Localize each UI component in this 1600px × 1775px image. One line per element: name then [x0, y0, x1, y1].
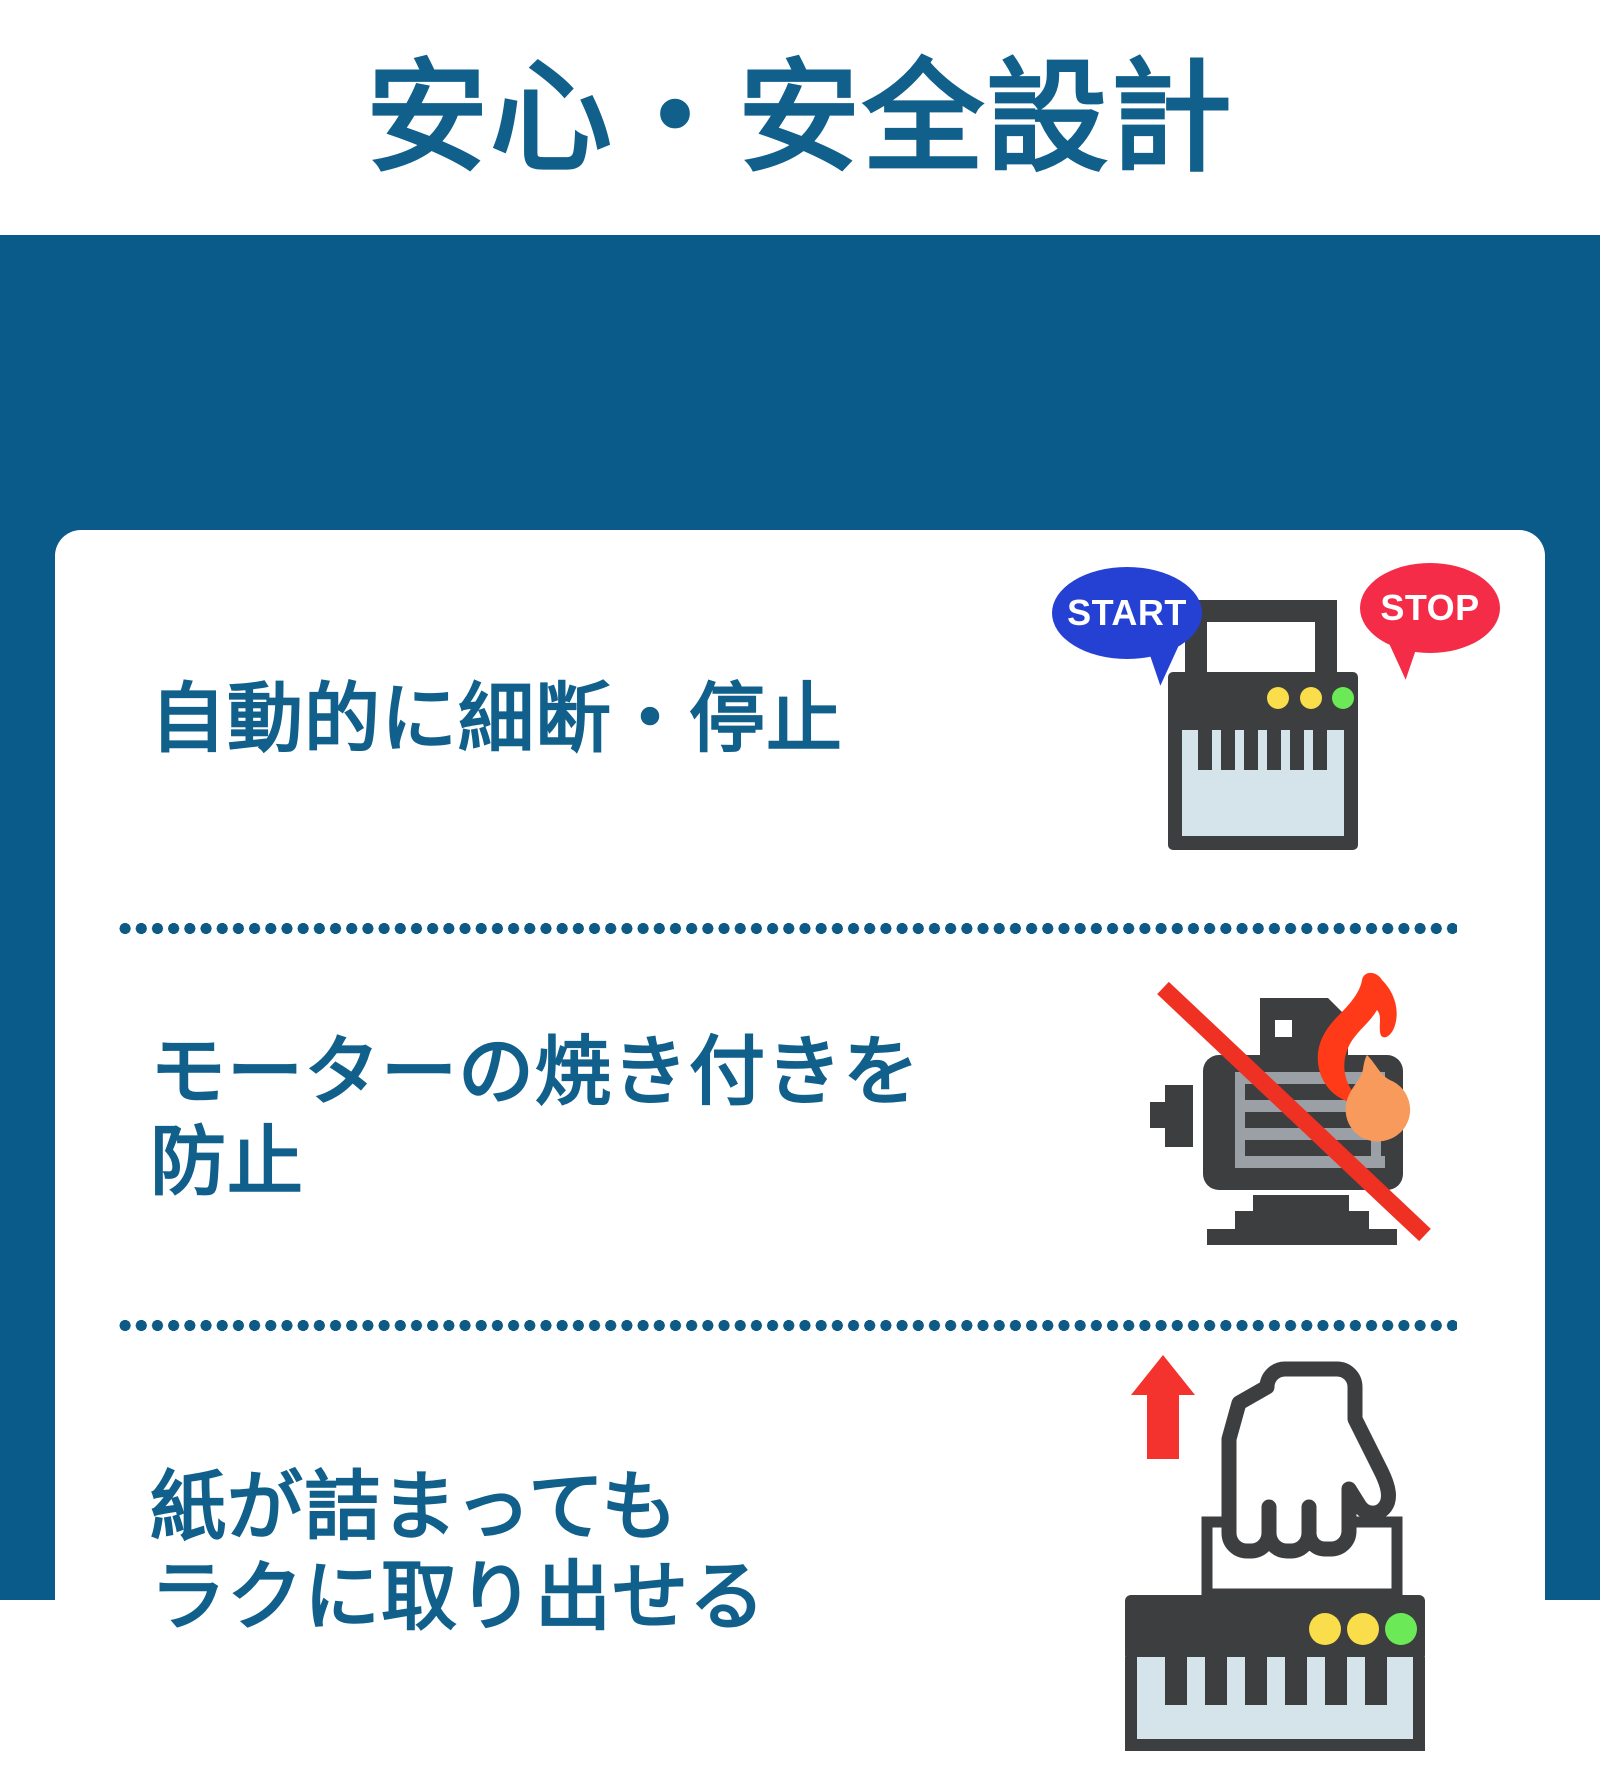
shredder-body — [1125, 1595, 1425, 1751]
start-bubble-tail — [1146, 639, 1186, 687]
indicator-light-2 — [1347, 1613, 1379, 1645]
blue-band: 自動的に細断・停止 START STOP — [0, 235, 1600, 1600]
feature-label-auto-shred-stop: 自動的に細断・停止 — [150, 675, 843, 765]
header: 安心・安全設計 — [0, 0, 1600, 235]
indicator-light-3 — [1385, 1613, 1417, 1645]
start-bubble-label: START — [1067, 592, 1187, 634]
indicator-light-1 — [1267, 687, 1289, 709]
indicator-light-1 — [1309, 1613, 1341, 1645]
feature-row-auto-shred-stop: 自動的に細断・停止 START STOP — [55, 530, 1545, 928]
start-bubble: START — [1052, 567, 1202, 659]
stop-bubble-label: STOP — [1380, 587, 1479, 629]
up-arrow-icon — [1131, 1355, 1195, 1459]
feature-row-motor-burn-prevention: モーターの焼き付きを 防止 — [55, 928, 1545, 1325]
motor-no-fire-icon — [1095, 950, 1475, 1260]
indicator-light-2 — [1300, 687, 1322, 709]
feature-row-easy-jam-removal: 紙が詰まっても ラクに取り出せる — [55, 1325, 1545, 1775]
feature-label-motor-burn-prevention: モーターの焼き付きを 防止 — [150, 1028, 920, 1207]
shredder-start-stop-icon: START STOP — [1030, 555, 1530, 895]
feature-card: 自動的に細断・停止 START STOP — [55, 530, 1545, 1775]
page-title: 安心・安全設計 — [366, 57, 1234, 179]
stop-bubble: STOP — [1360, 563, 1500, 653]
stop-bubble-tail — [1380, 633, 1420, 681]
motor-base — [1207, 1195, 1397, 1245]
hand-pull-paper-shredder-icon — [1115, 1347, 1475, 1757]
infographic-page: 安心・安全設計 自動的に細断・停止 START STOP — [0, 0, 1600, 1600]
indicator-light-3 — [1332, 687, 1354, 709]
feature-label-easy-jam-removal: 紙が詰まっても ラクに取り出せる — [150, 1463, 766, 1642]
